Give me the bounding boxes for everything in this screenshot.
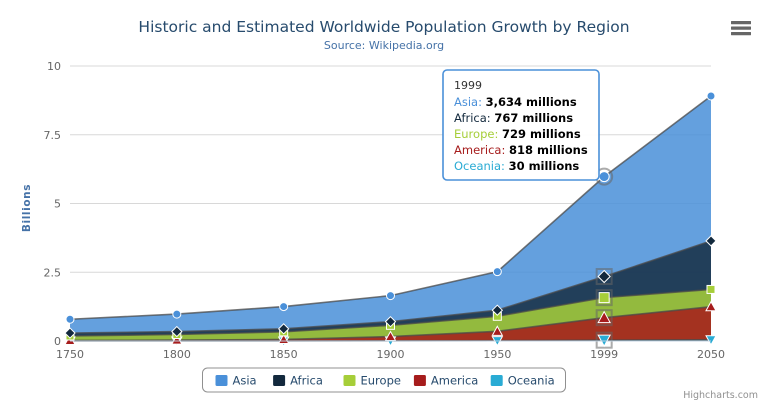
tooltip-series-name: America: xyxy=(454,143,509,157)
legend-item-oceania[interactable]: Oceania xyxy=(491,374,555,388)
legend-swatch-europe xyxy=(344,375,356,386)
context-menu-button[interactable] xyxy=(726,16,756,40)
tooltip-header: 1999 xyxy=(454,79,482,92)
legend-swatch-asia xyxy=(216,375,228,386)
marker-circle[interactable] xyxy=(493,268,501,276)
tooltip-series-name: Europe: xyxy=(454,127,502,141)
legend-item-africa[interactable]: Africa xyxy=(273,374,323,388)
chart-svg: Historic and Estimated Worldwide Populat… xyxy=(0,0,769,416)
marker-circle[interactable] xyxy=(387,292,395,300)
legend-label: Africa xyxy=(290,374,323,388)
marker-circle[interactable] xyxy=(707,92,715,100)
legend-label: Europe xyxy=(361,374,401,388)
tooltip-row: Europe: 729 millions xyxy=(454,127,581,141)
y-axis-title: Billions xyxy=(21,184,33,232)
legend-item-asia[interactable]: Asia xyxy=(216,374,257,388)
legend-swatch-africa xyxy=(273,375,285,386)
tooltip-series-value: 30 millions xyxy=(509,159,580,173)
x-axis-tick-label: 1800 xyxy=(163,348,191,361)
x-axis-tick-label: 1999 xyxy=(590,348,618,361)
y-axis-tick-label: 10 xyxy=(47,60,61,73)
legend-item-america[interactable]: America xyxy=(414,374,478,388)
x-axis-tick-label: 1950 xyxy=(483,348,511,361)
tooltip-series-value: 767 millions xyxy=(494,111,573,125)
marker-square[interactable] xyxy=(597,290,612,305)
legend-label: Oceania xyxy=(508,374,555,388)
y-axis-tick-label: 2.5 xyxy=(44,266,62,279)
marker-circle[interactable] xyxy=(280,303,288,311)
tooltip-row: Oceania: 30 millions xyxy=(454,159,579,173)
tooltip-series-name: Asia: xyxy=(454,95,486,109)
marker-circle[interactable] xyxy=(173,310,181,318)
legend-item-europe[interactable]: Europe xyxy=(344,374,401,388)
tooltip-series-value: 3,634 millions xyxy=(486,95,577,109)
credits-label[interactable]: Highcharts.com xyxy=(683,390,758,401)
x-axis-tick-label: 1750 xyxy=(56,348,84,361)
tooltip-series-value: 818 millions xyxy=(509,143,588,157)
chart-tooltip: 1999Asia: 3,634 millionsAfrica: 767 mill… xyxy=(443,70,599,180)
chart-subtitle: Source: Wikipedia.org xyxy=(324,39,444,52)
x-axis-tick-label: 2050 xyxy=(697,348,725,361)
marker-square[interactable] xyxy=(707,285,715,293)
tooltip-row: Asia: 3,634 millions xyxy=(454,95,577,109)
legend-label: America xyxy=(431,374,478,388)
tooltip-row: Africa: 767 millions xyxy=(454,111,573,125)
chart-title: Historic and Estimated Worldwide Populat… xyxy=(138,18,629,36)
x-axis-tick-label: 1900 xyxy=(377,348,405,361)
highcharts-container: Historic and Estimated Worldwide Populat… xyxy=(0,0,769,416)
y-axis-tick-label: 0 xyxy=(54,335,61,348)
tooltip-series-name: Oceania: xyxy=(454,159,509,173)
x-axis-tick-label: 1850 xyxy=(270,348,298,361)
tooltip-row: America: 818 millions xyxy=(454,143,588,157)
legend-swatch-america xyxy=(414,375,426,386)
marker-circle[interactable] xyxy=(66,315,74,323)
legend-swatch-oceania xyxy=(491,375,503,386)
chart-legend[interactable]: AsiaAfricaEuropeAmericaOceania xyxy=(203,368,566,392)
tooltip-series-value: 729 millions xyxy=(502,127,581,141)
tooltip-series-name: Africa: xyxy=(454,111,494,125)
y-axis-tick-label: 5 xyxy=(54,198,61,211)
y-axis-tick-label: 7.5 xyxy=(44,129,62,142)
legend-label: Asia xyxy=(233,374,257,388)
